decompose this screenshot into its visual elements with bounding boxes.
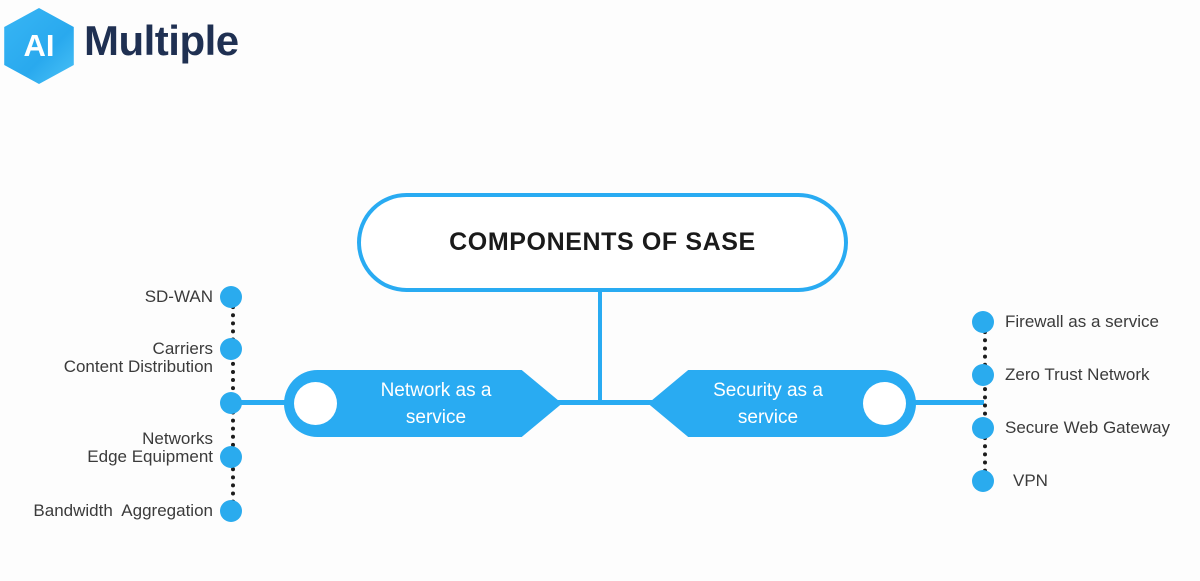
node-dot-edge-equipment[interactable]: [220, 446, 242, 468]
logo-wordmark: Multiple: [84, 17, 239, 65]
node-label-edge-equipment: Edge Equipment: [87, 445, 213, 469]
aimultiple-logo: AI Multiple: [0, 4, 250, 88]
node-label-zero-trust-network: Zero Trust Network: [1005, 363, 1150, 387]
node-dot-carriers[interactable]: [220, 338, 242, 360]
connector-vertical: [598, 290, 602, 405]
node-dot-sd-wan[interactable]: [220, 286, 242, 308]
node-dot-secure-web-gateway[interactable]: [972, 417, 994, 439]
branch-banner-network[interactable]: Network as a service: [284, 370, 562, 437]
node-label-cdn-line1: Content Distribution: [64, 355, 213, 379]
branch-label-security-line1: Security as a: [713, 377, 823, 404]
node-dot-zero-trust-network[interactable]: [972, 364, 994, 386]
node-label-sd-wan: SD-WAN: [145, 285, 213, 309]
branch-label-network-line1: Network as a: [381, 377, 492, 404]
branch-label-security-line2: service: [738, 404, 798, 431]
node-label-vpn: VPN: [1013, 469, 1048, 493]
branch-label-network-line2: service: [406, 404, 466, 431]
page-title: COMPONENTS OF SASE: [449, 228, 756, 257]
node-dot-firewall-as-a-service[interactable]: [972, 311, 994, 333]
diagram-canvas: AI Multiple COMPONENTS OF SASE Network a…: [0, 0, 1200, 581]
branch-banner-security[interactable]: Security as a service: [648, 370, 916, 437]
node-dot-vpn[interactable]: [972, 470, 994, 492]
node-label-firewall-as-a-service: Firewall as a service: [1005, 310, 1159, 334]
diagram-title-pill: COMPONENTS OF SASE: [357, 193, 848, 292]
node-label-secure-web-gateway: Secure Web Gateway: [1005, 416, 1170, 440]
banner-circle-icon: [294, 382, 337, 425]
dotted-spine-right: [983, 322, 987, 481]
branch-label-network: Network as a service: [346, 370, 526, 437]
logo-mark-text: AI: [2, 8, 76, 84]
connector-horizontal-center: [556, 400, 656, 405]
node-label-content-distribution-networks: Content Distribution Networks: [64, 307, 213, 499]
node-label-bandwidth-aggregation: Bandwidth Aggregation: [33, 499, 213, 523]
node-dot-bandwidth-aggregation[interactable]: [220, 500, 242, 522]
node-dot-content-distribution-networks[interactable]: [220, 392, 242, 414]
banner-circle-icon: [863, 382, 906, 425]
connector-right-stub: [912, 400, 984, 405]
branch-label-security: Security as a service: [678, 370, 858, 437]
